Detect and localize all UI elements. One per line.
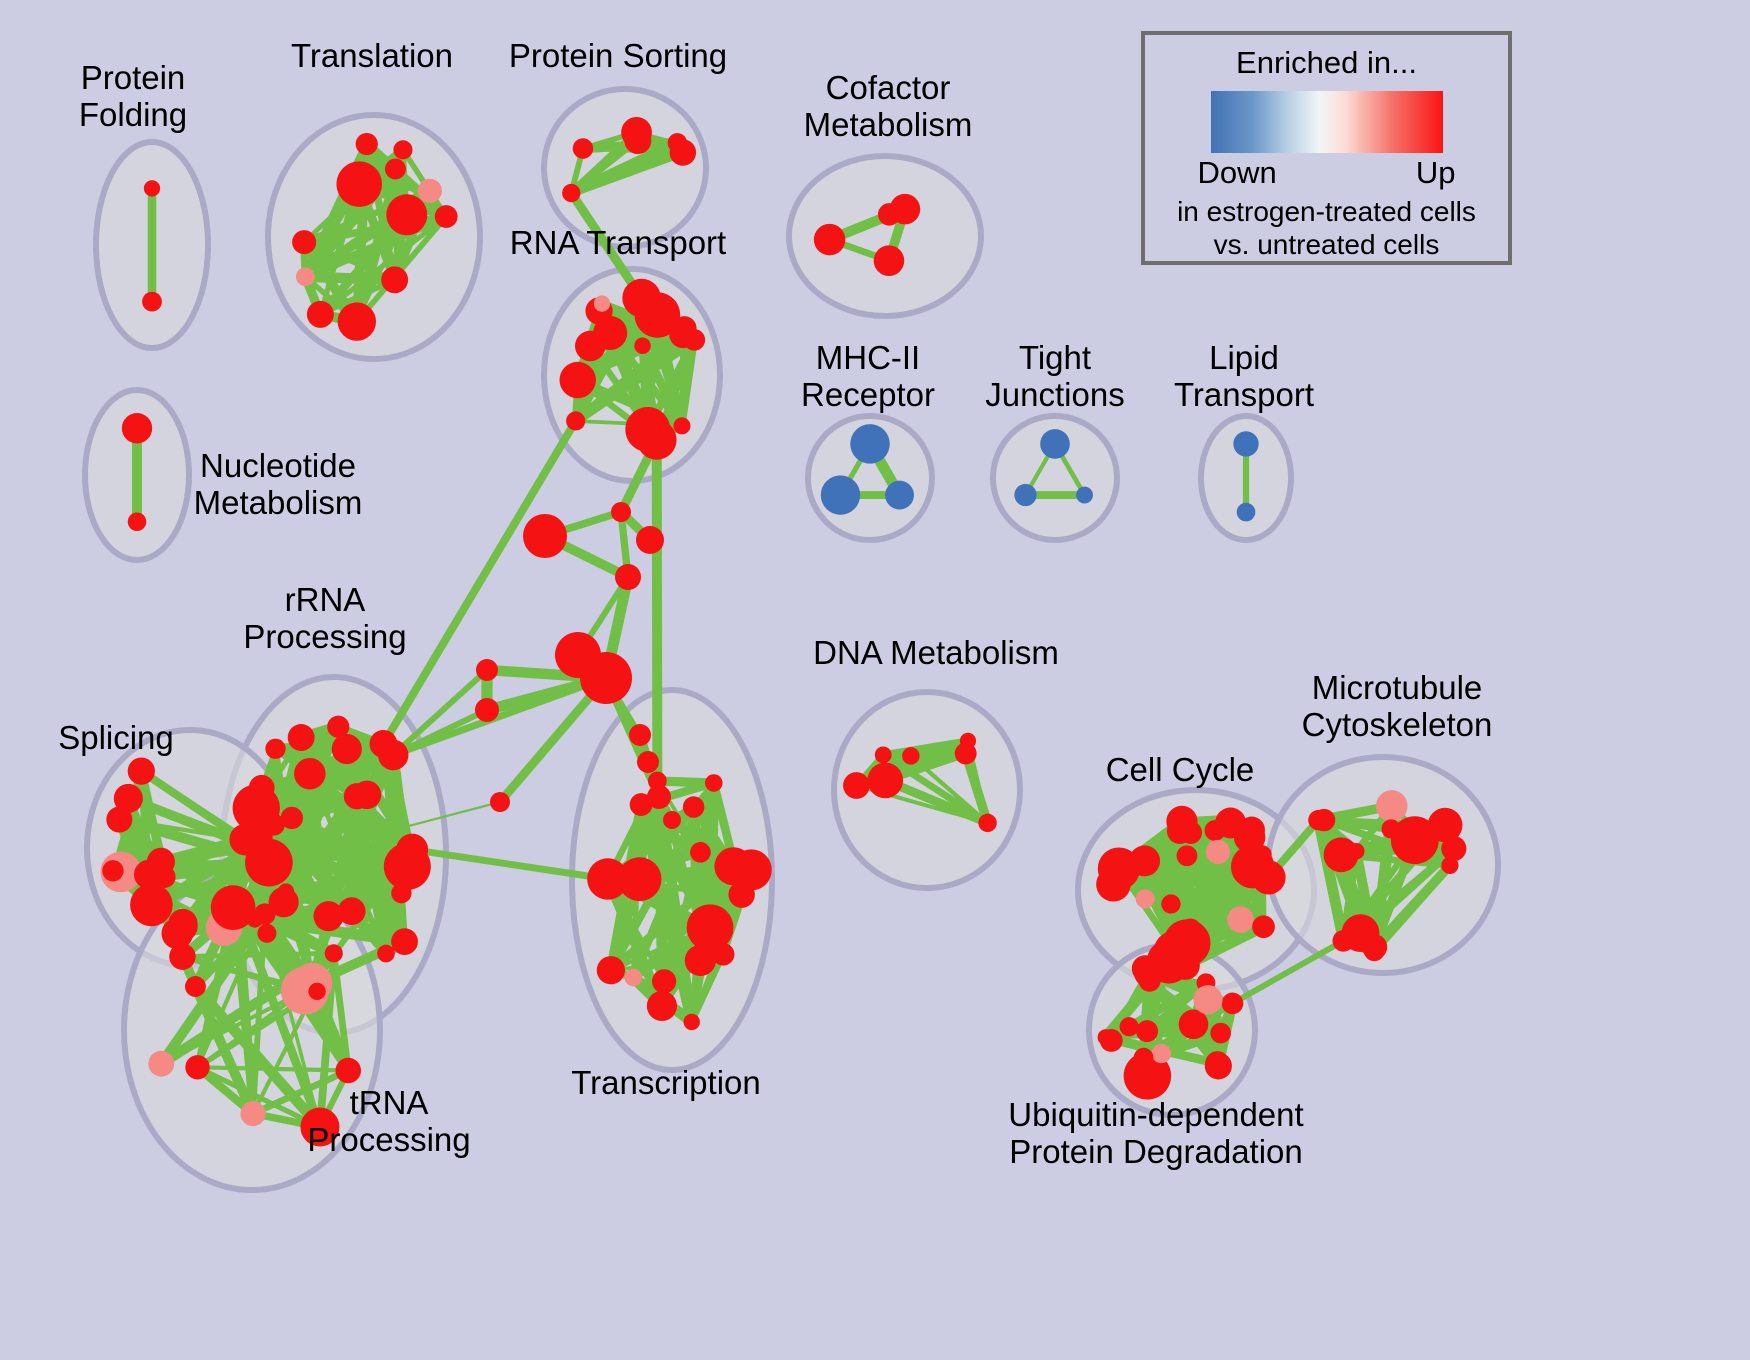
network-node[interactable] (885, 481, 914, 510)
network-node[interactable] (1233, 431, 1258, 456)
network-node[interactable] (1205, 1051, 1230, 1076)
network-node[interactable] (1177, 845, 1198, 866)
network-node[interactable] (338, 302, 376, 340)
network-node[interactable] (705, 774, 723, 792)
cluster-label: ProteinFolding (79, 59, 187, 133)
network-node[interactable] (573, 138, 594, 159)
network-node[interactable] (878, 203, 900, 225)
network-node[interactable] (1076, 487, 1093, 504)
network-node[interactable] (566, 411, 585, 430)
cluster-label: CofactorMetabolism (804, 69, 973, 143)
network-node[interactable] (308, 983, 325, 1000)
network-node[interactable] (385, 158, 406, 179)
network-node[interactable] (294, 758, 326, 790)
network-node[interactable] (814, 224, 845, 255)
cluster-label: MHC-IIReceptor (801, 339, 935, 413)
network-node[interactable] (386, 194, 427, 235)
network-edge (182, 953, 333, 956)
network-node[interactable] (684, 1014, 700, 1030)
cluster-label: Splicing (58, 719, 174, 756)
network-node[interactable] (335, 1058, 361, 1084)
network-node[interactable] (634, 337, 651, 354)
network-edge (657, 440, 658, 781)
network-edge (393, 670, 487, 755)
network-node[interactable] (874, 245, 905, 276)
network-node[interactable] (396, 834, 428, 866)
network-node[interactable] (625, 969, 643, 987)
network-node[interactable] (652, 969, 676, 993)
network-node[interactable] (1014, 484, 1036, 506)
network-node[interactable] (1136, 889, 1155, 908)
network-node[interactable] (523, 514, 567, 558)
cluster-label: TightJunctions (985, 339, 1124, 413)
network-node[interactable] (562, 184, 580, 202)
network-node[interactable] (148, 1051, 174, 1077)
legend-high-label: Up (1416, 155, 1456, 191)
network-node[interactable] (249, 775, 275, 801)
network-node[interactable] (673, 417, 690, 434)
network-node[interactable] (1364, 940, 1385, 961)
network-node[interactable] (1348, 843, 1364, 859)
network-node[interactable] (875, 746, 892, 763)
network-node[interactable] (693, 923, 710, 940)
network-edge (883, 753, 965, 754)
network-node[interactable] (128, 512, 147, 531)
network-node[interactable] (435, 205, 458, 228)
network-node[interactable] (1193, 985, 1222, 1014)
legend-caption: in estrogen-treated cells vs. untreated … (1177, 195, 1476, 261)
network-node[interactable] (1441, 836, 1466, 861)
network-node[interactable] (1134, 1048, 1154, 1068)
network-node[interactable] (647, 991, 677, 1021)
network-node[interactable] (128, 758, 155, 785)
network-node[interactable] (254, 903, 276, 925)
network-node[interactable] (130, 884, 173, 927)
network-node[interactable] (560, 362, 596, 398)
network-node[interactable] (580, 652, 632, 704)
network-node[interactable] (1381, 819, 1400, 838)
network-node[interactable] (476, 659, 498, 681)
network-node[interactable] (843, 772, 870, 799)
network-node[interactable] (615, 564, 641, 590)
network-node[interactable] (597, 956, 625, 984)
network-node[interactable] (102, 860, 123, 881)
network-node[interactable] (1179, 1010, 1209, 1040)
network-node[interactable] (625, 407, 670, 452)
cluster-label: Ubiquitin-dependentProtein Degradation (1008, 1096, 1303, 1170)
network-node[interactable] (336, 161, 382, 207)
cluster-label: Cell Cycle (1106, 751, 1255, 788)
network-node[interactable] (240, 1101, 265, 1126)
network-node[interactable] (325, 944, 343, 962)
network-node[interactable] (142, 292, 162, 312)
network-node[interactable] (168, 911, 198, 941)
network-node[interactable] (1252, 915, 1275, 938)
network-node[interactable] (490, 792, 510, 812)
network-node[interactable] (1040, 429, 1070, 459)
network-node[interactable] (1098, 847, 1140, 889)
network-node[interactable] (377, 945, 395, 963)
network-node[interactable] (393, 140, 412, 159)
network-node[interactable] (185, 1055, 209, 1079)
network-node[interactable] (1313, 809, 1335, 831)
network-node[interactable] (1152, 1044, 1172, 1064)
network-node[interactable] (867, 762, 903, 798)
network-node[interactable] (1100, 1029, 1123, 1052)
legend-endpoints: Down Up (1198, 155, 1456, 191)
network-node[interactable] (690, 842, 711, 863)
legend-caption-line1: in estrogen-treated cells (1177, 195, 1476, 228)
network-node[interactable] (1167, 818, 1193, 844)
cluster-label: DNA Metabolism (813, 634, 1059, 671)
legend-title: Enriched in... (1236, 45, 1417, 81)
cluster-label: Protein Sorting (509, 37, 727, 74)
network-node[interactable] (292, 230, 316, 254)
network-node[interactable] (821, 475, 860, 514)
network-node[interactable] (1210, 1023, 1231, 1044)
network-node[interactable] (955, 743, 977, 765)
cluster-label: NucleotideMetabolism (194, 447, 363, 521)
network-node[interactable] (1120, 1017, 1139, 1036)
network-node[interactable] (391, 928, 418, 955)
network-node[interactable] (263, 814, 285, 836)
network-node[interactable] (391, 883, 411, 903)
network-node[interactable] (647, 785, 671, 809)
cluster-label: Transcription (571, 1064, 761, 1101)
legend-panel: Enriched in... Down Up in estrogen-treat… (1141, 31, 1512, 265)
network-node[interactable] (257, 924, 276, 943)
network-node[interactable] (685, 945, 716, 976)
network-node[interactable] (144, 180, 160, 196)
network-node[interactable] (378, 740, 409, 771)
network-node[interactable] (296, 267, 315, 286)
network-node[interactable] (1237, 503, 1256, 522)
network-node[interactable] (621, 870, 650, 899)
network-node[interactable] (185, 976, 206, 997)
network-node[interactable] (332, 734, 362, 764)
legend-caption-line2: vs. untreated cells (1177, 228, 1476, 261)
cluster-label: LipidTransport (1174, 339, 1314, 413)
legend-low-label: Down (1198, 155, 1277, 191)
cluster-label: rRNAProcessing (243, 581, 406, 655)
network-node[interactable] (338, 897, 366, 925)
network-node[interactable] (288, 724, 315, 751)
network-node[interactable] (418, 179, 442, 203)
network-node[interactable] (1134, 958, 1164, 988)
cluster-label: MicrotubuleCytoskeleton (1302, 669, 1493, 743)
network-node[interactable] (611, 502, 631, 522)
network-node[interactable] (1251, 860, 1285, 894)
network-node[interactable] (978, 814, 996, 832)
network-node[interactable] (1161, 894, 1180, 913)
network-node[interactable] (1227, 906, 1254, 933)
network-node[interactable] (902, 747, 920, 765)
network-node[interactable] (850, 424, 890, 464)
network-node[interactable] (1215, 808, 1246, 839)
network-node[interactable] (353, 781, 382, 810)
network-node[interactable] (1333, 930, 1355, 952)
network-node[interactable] (635, 292, 681, 338)
network-node[interactable] (668, 133, 688, 153)
network-node[interactable] (122, 413, 152, 443)
network-node[interactable] (169, 943, 195, 969)
network-node[interactable] (728, 881, 754, 907)
network-node[interactable] (629, 724, 651, 746)
network-node[interactable] (1222, 993, 1244, 1015)
network-node[interactable] (226, 896, 252, 922)
network-node[interactable] (663, 811, 681, 829)
network-node[interactable] (307, 301, 334, 328)
network-node[interactable] (1376, 790, 1408, 822)
network-node[interactable] (1253, 845, 1271, 863)
network-node[interactable] (265, 739, 285, 759)
cluster-label: Translation (291, 37, 453, 74)
network-node[interactable] (245, 839, 293, 887)
cluster-label: RNA Transport (510, 224, 726, 261)
network-node[interactable] (1136, 1020, 1158, 1042)
network-node[interactable] (1206, 840, 1230, 864)
network-node[interactable] (624, 127, 651, 154)
network-node[interactable] (636, 526, 664, 554)
network-node[interactable] (683, 796, 705, 818)
legend-colorbar (1211, 91, 1443, 153)
network-node[interactable] (475, 698, 499, 722)
network-node[interactable] (356, 133, 378, 155)
network-node[interactable] (114, 784, 143, 813)
network-node[interactable] (594, 295, 610, 311)
network-node[interactable] (637, 751, 659, 773)
network-node[interactable] (381, 266, 408, 293)
